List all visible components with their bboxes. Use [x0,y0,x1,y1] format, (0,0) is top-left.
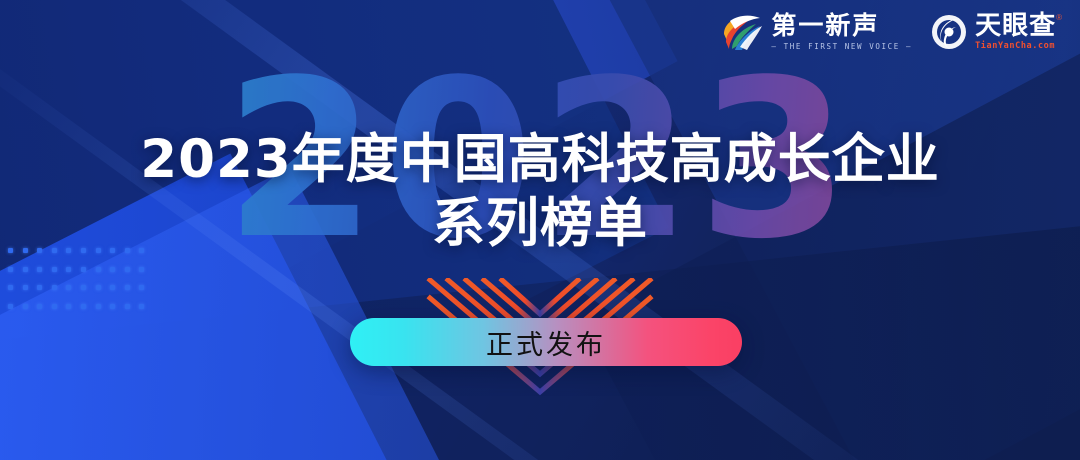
headline-line-2: 系列榜单 [0,194,1080,254]
release-badge[interactable]: 正式发布 [350,318,742,366]
diyixinsheng-text-block: 第一新声 — THE FIRST NEW VOICE — [771,13,912,50]
logo-bar: 第一新声 — THE FIRST NEW VOICE — 天眼查 ® TianY… [720,12,1062,52]
headline-line-1: 2023年度中国高科技高成长企业 [0,132,1080,188]
diyixinsheng-tagline: — THE FIRST NEW VOICE — [771,42,912,51]
logo-diyixinsheng[interactable]: 第一新声 — THE FIRST NEW VOICE — [720,12,912,52]
page-title: 2023年度中国高科技高成长企业 系列榜单 [0,132,1080,255]
tianyancha-text-block: 天眼查 ® TianYanCha.com [975,13,1062,51]
release-badge-label: 正式发布 [486,323,606,362]
tianyancha-tagline: TianYanCha.com [975,41,1062,51]
poster-canvas: 2023 2023年度中国高 [0,0,1080,460]
trademark-symbol: ® [1056,13,1062,22]
diyixinsheng-logo-icon [720,12,764,52]
tianyancha-name: 天眼查 [975,13,1056,40]
tianyancha-name-row: 天眼查 ® [975,13,1062,40]
diyixinsheng-name: 第一新声 [771,13,912,39]
tianyancha-logo-icon [930,13,968,51]
logo-tianyancha[interactable]: 天眼查 ® TianYanCha.com [930,13,1062,51]
